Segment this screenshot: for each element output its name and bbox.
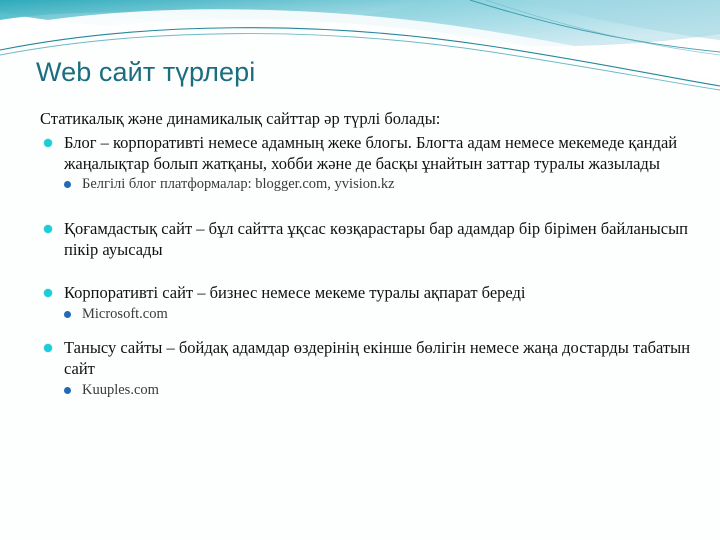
spacer xyxy=(36,260,696,282)
slide-content: Статикалық және динамикалық сайттар әр т… xyxy=(36,108,696,399)
sub-bullet-item: Kuuples.com xyxy=(60,381,696,400)
intro-text: Статикалық және динамикалық сайттар әр т… xyxy=(36,108,696,129)
spacer xyxy=(36,194,696,218)
bullet-item: Корпоративті сайт – бизнес немесе мекеме… xyxy=(42,282,696,303)
bullet-item-label: Корпоративті сайт – бизнес немесе мекеме… xyxy=(64,283,526,302)
bullet-group-4: Танысу сайты – бойдақ адамдар өздерінің … xyxy=(36,337,696,399)
bullet-item: Танысу сайты – бойдақ адамдар өздерінің … xyxy=(42,337,696,379)
sub-bullet-dot-icon xyxy=(64,387,71,394)
bullet-dot-icon xyxy=(44,225,52,233)
spacer xyxy=(36,323,696,337)
sub-bullet-item-label: Белгілі блог платформалар: blogger.com, … xyxy=(82,176,395,192)
sub-bullet-item-label: Kuuples.com xyxy=(82,382,159,398)
bullet-item: Қоғамдастық сайт – бұл сайтта ұқсас көзқ… xyxy=(42,218,696,260)
bullet-group-1: Блог – корпоративті немесе адамның жеке … xyxy=(36,132,696,194)
page-title: Web сайт түрлері xyxy=(36,57,676,88)
bullet-dot-icon xyxy=(44,289,52,297)
sub-bullet-item: Белгілі блог платформалар: blogger.com, … xyxy=(60,175,696,194)
bullet-dot-icon xyxy=(44,344,52,352)
slide: Web сайт түрлері Статикалық және динамик… xyxy=(0,0,720,540)
sub-bullet-dot-icon xyxy=(64,311,71,318)
bullet-group-3: Корпоративті сайт – бизнес немесе мекеме… xyxy=(36,282,696,323)
sub-bullet-item-label: Microsoft.com xyxy=(82,306,168,322)
bullet-dot-icon xyxy=(44,139,52,147)
bullet-item-label: Танысу сайты – бойдақ адамдар өздерінің … xyxy=(64,338,690,378)
bullet-item: Блог – корпоративті немесе адамның жеке … xyxy=(42,132,696,174)
sub-bullet-item: Microsoft.com xyxy=(60,305,696,324)
bullet-item-label: Қоғамдастық сайт – бұл сайтта ұқсас көзқ… xyxy=(64,219,688,259)
sub-bullet-dot-icon xyxy=(64,181,71,188)
bullet-group-2: Қоғамдастық сайт – бұл сайтта ұқсас көзқ… xyxy=(36,218,696,260)
bullet-item-label: Блог – корпоративті немесе адамның жеке … xyxy=(64,133,677,173)
